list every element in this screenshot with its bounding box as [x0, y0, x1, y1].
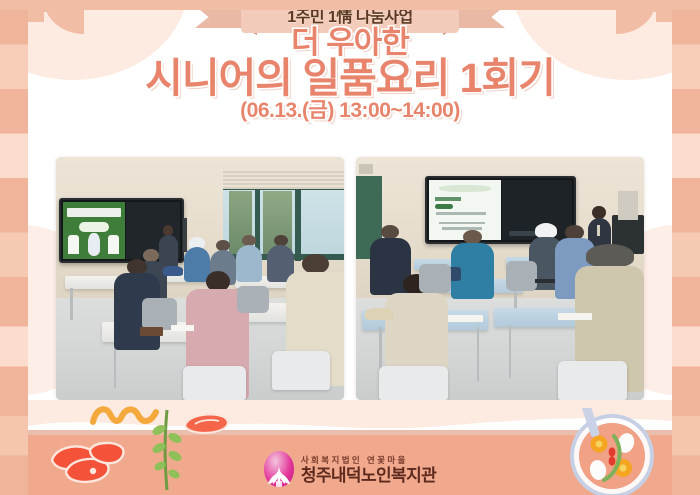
slide-heading: [435, 197, 461, 201]
chair: [237, 286, 269, 313]
footer-logo-group: 사회복지법인 연꽃마을 청주내덕노인복지관: [28, 449, 672, 491]
headline-group: 더 우아한 시니어의 일품요리 1회기 (06.13.(금) 13:00~14:…: [28, 27, 672, 122]
chair: [419, 264, 451, 293]
desk-item-phone: [535, 279, 555, 284]
schedule-text: (06.13.(금) 13:00~14:00): [28, 100, 672, 122]
chair: [558, 361, 627, 400]
desk-item-cap: [163, 266, 183, 276]
slide-badge: [435, 204, 454, 209]
frame-border-right: [672, 0, 700, 495]
slide-figure: [108, 235, 119, 254]
desk-item-wallet: [140, 327, 163, 336]
chair: [272, 351, 330, 390]
chair: [506, 261, 538, 290]
chair: [183, 366, 246, 400]
org-name: 청주내덕노인복지관: [301, 467, 436, 484]
lotus-petals: [264, 451, 294, 489]
desk-item-paper: [448, 315, 483, 322]
slide-chef: [88, 233, 100, 256]
desk-leg: [70, 288, 73, 320]
lanyard: [597, 225, 599, 235]
attendee: [451, 230, 494, 296]
chair: [379, 366, 448, 400]
frame-border-left: [0, 0, 28, 495]
poster-canvas: 1주민 1情 나눔사업 더 우아한 시니어의 일품요리 1회기 (06.13.(…: [0, 0, 700, 495]
slide-subtitle: [79, 222, 109, 232]
window-blinds: [223, 169, 344, 188]
slide-ribbon: [439, 185, 490, 192]
title-line-2: 시니어의 일품요리 1회기: [28, 57, 672, 99]
presenter-head: [592, 206, 605, 219]
org-subtitle: 사회복지법인 연꽃마을: [301, 456, 408, 465]
slide-figure: [68, 235, 79, 254]
window-mullion: [295, 184, 301, 262]
slide-text-line: [436, 212, 486, 214]
slide-content: [63, 202, 125, 259]
desk-item-paper: [558, 313, 593, 320]
desk-item-hat: [365, 308, 394, 320]
frame-border-top: [0, 0, 700, 10]
pc-tower: [618, 191, 638, 220]
photo-classroom-right: [356, 157, 644, 400]
photo-classroom-left: [56, 157, 344, 400]
wall-fixture: [359, 164, 373, 174]
slide-title-bar: [67, 208, 122, 217]
footer-org-text: 사회복지법인 연꽃마을 청주내덕노인복지관: [301, 456, 436, 485]
photo-row: [56, 157, 644, 400]
poster-page: 1주민 1情 나눔사업 더 우아한 시니어의 일품요리 1회기 (06.13.(…: [28, 0, 672, 495]
steak-icon: [181, 412, 233, 434]
attendee-cap: [586, 244, 634, 267]
desk-leg: [509, 325, 512, 378]
lotus-logo-icon: [264, 451, 294, 489]
desk-leg: [477, 327, 480, 380]
slide-text-line: [439, 222, 485, 224]
desk-item-paper: [171, 325, 194, 331]
